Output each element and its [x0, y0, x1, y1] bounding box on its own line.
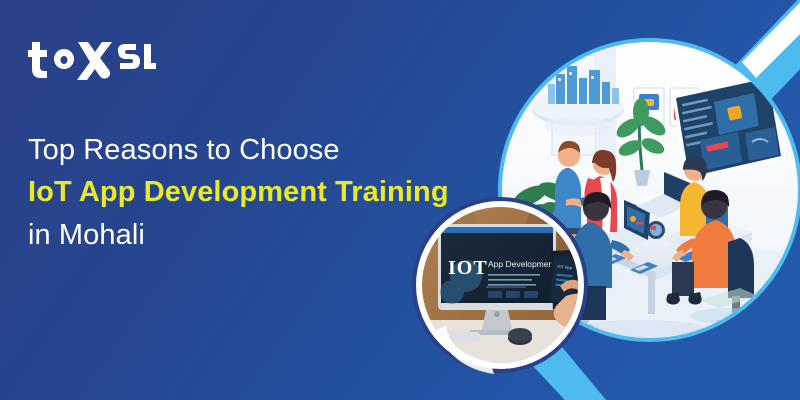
- svg-text:IOT: IOT: [448, 257, 488, 279]
- headline-line-3: in Mohali: [28, 214, 468, 256]
- headline-block: Top Reasons to Choose IoT App Developmen…: [28, 130, 468, 256]
- logo-toxsl[interactable]: [26, 34, 156, 80]
- banner-root: IOT App Development: [0, 0, 800, 400]
- headline-line-1: Top Reasons to Choose: [28, 130, 468, 170]
- svg-text:App Development: App Development: [488, 259, 556, 269]
- headline-line-2: IoT App Development Training: [28, 170, 468, 214]
